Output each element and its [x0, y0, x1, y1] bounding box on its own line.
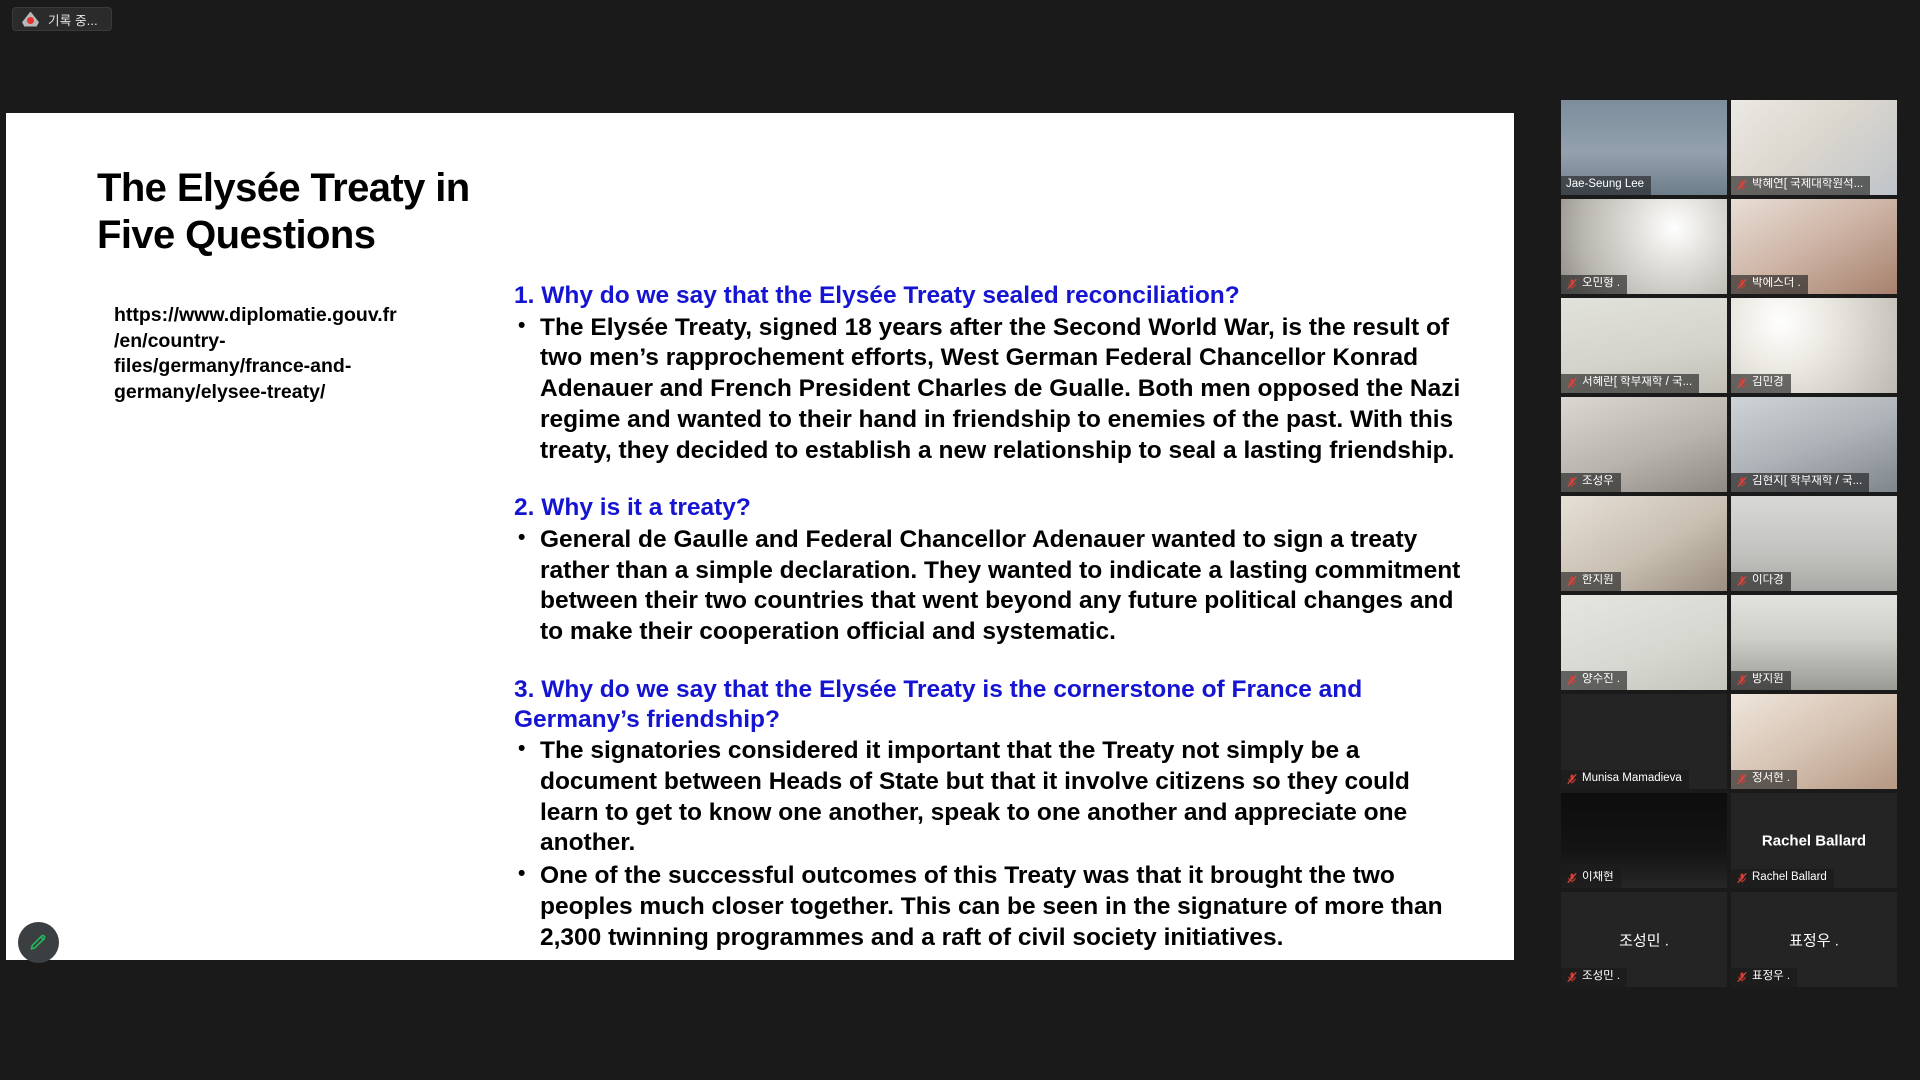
- participant-nametag: 한지원: [1561, 572, 1621, 591]
- participant-nametag: 박혜연[ 국제대학원석...: [1731, 176, 1870, 195]
- participant-tile[interactable]: Jae-Seung Lee: [1561, 100, 1727, 195]
- question-block-1: 1. Why do we say that the Elysée Treaty …: [514, 281, 1469, 466]
- participant-name: 조성우: [1582, 475, 1614, 489]
- participant-name: Munisa Mamadieva: [1582, 772, 1682, 786]
- bullet-item: One of the successful outcomes of this T…: [514, 861, 1469, 953]
- participant-name: 김현지[ 학부재학 / 국...: [1752, 475, 1862, 489]
- mic-muted-icon: [1566, 971, 1578, 983]
- participant-tile[interactable]: 오민형 .: [1561, 199, 1727, 294]
- slide-body: 1. Why do we say that the Elysée Treaty …: [514, 281, 1469, 953]
- question-heading: 1. Why do we say that the Elysée Treaty …: [514, 281, 1469, 311]
- participant-tile[interactable]: 이다경: [1731, 496, 1897, 591]
- participant-name: 정서현 .: [1752, 772, 1790, 786]
- mic-muted-icon: [1736, 377, 1748, 389]
- mic-muted-icon: [1566, 377, 1578, 389]
- question-block-3: 3. Why do we say that the Elysée Treaty …: [514, 675, 1469, 953]
- participant-name: 양수진 .: [1582, 673, 1620, 687]
- participant-tile[interactable]: Rachel BallardRachel Ballard: [1731, 793, 1897, 888]
- shared-screen-slide[interactable]: The Elysée Treaty in Five Questions http…: [6, 113, 1514, 960]
- participant-name: 이채현: [1582, 871, 1614, 885]
- participant-tile[interactable]: 표정우 .표정우 .: [1731, 892, 1897, 987]
- participant-name: 이다경: [1752, 574, 1784, 588]
- participant-video-strip[interactable]: Jae-Seung Lee박혜연[ 국제대학원석...오민형 .박에스더 .서혜…: [1561, 100, 1899, 987]
- mic-muted-icon: [1736, 674, 1748, 686]
- mic-muted-icon: [1736, 179, 1748, 191]
- participant-tile[interactable]: 방지원: [1731, 595, 1897, 690]
- participant-tile[interactable]: 양수진 .: [1561, 595, 1727, 690]
- participant-nametag: 박에스더 .: [1731, 275, 1808, 294]
- question-bullets: General de Gaulle and Federal Chancellor…: [514, 525, 1469, 648]
- participant-tile[interactable]: Munisa Mamadieva: [1561, 694, 1727, 789]
- participant-center-name: Rachel Ballard: [1731, 832, 1897, 849]
- participant-name: Rachel Ballard: [1752, 871, 1827, 885]
- participant-tile[interactable]: 박에스더 .: [1731, 199, 1897, 294]
- slide-source-url: https://www.diplomatie.gouv.fr/en/countr…: [114, 303, 399, 406]
- mic-muted-icon: [1736, 773, 1748, 785]
- mic-muted-icon: [1736, 278, 1748, 290]
- question-bullets: The Elysée Treaty, signed 18 years after…: [514, 313, 1469, 467]
- zoom-meeting-window: 기록 중... The Elysée Treaty in Five Questi…: [0, 0, 1920, 1080]
- participant-tile[interactable]: 한지원: [1561, 496, 1727, 591]
- mic-muted-icon: [1566, 278, 1578, 290]
- mic-muted-icon: [1736, 971, 1748, 983]
- bullet-item: General de Gaulle and Federal Chancellor…: [514, 525, 1469, 648]
- participant-name: Jae-Seung Lee: [1566, 178, 1644, 192]
- participant-name: 오민형 .: [1582, 277, 1620, 291]
- question-heading: 2. Why is it a treaty?: [514, 493, 1469, 523]
- pencil-icon: [28, 932, 49, 953]
- participant-nametag: 서혜란[ 학부재학 / 국...: [1561, 374, 1699, 393]
- participant-tile[interactable]: 김민경: [1731, 298, 1897, 393]
- participant-name: 박혜연[ 국제대학원석...: [1752, 178, 1863, 192]
- participant-name: 서혜란[ 학부재학 / 국...: [1582, 376, 1692, 390]
- recording-dot-icon: [22, 12, 39, 27]
- mic-muted-icon: [1566, 476, 1578, 488]
- annotate-button[interactable]: [18, 922, 59, 963]
- participant-nametag: 조성우: [1561, 473, 1621, 492]
- mic-muted-icon: [1736, 872, 1748, 884]
- participant-tile[interactable]: 김현지[ 학부재학 / 국...: [1731, 397, 1897, 492]
- participant-name: 박에스더 .: [1752, 277, 1801, 291]
- participant-center-name: 조성민 .: [1561, 929, 1727, 950]
- participant-tile[interactable]: 서혜란[ 학부재학 / 국...: [1561, 298, 1727, 393]
- participant-nametag: 이채현: [1561, 869, 1621, 888]
- participant-nametag: 오민형 .: [1561, 275, 1627, 294]
- participant-name: 한지원: [1582, 574, 1614, 588]
- participant-name: 방지원: [1752, 673, 1784, 687]
- participant-tile[interactable]: 조성우: [1561, 397, 1727, 492]
- participant-nametag: 표정우 .: [1731, 968, 1797, 987]
- mic-muted-icon: [1566, 674, 1578, 686]
- question-bullets: The signatories considered it important …: [514, 736, 1469, 953]
- mic-muted-icon: [1566, 575, 1578, 587]
- mic-muted-icon: [1736, 575, 1748, 587]
- bullet-item: The Elysée Treaty, signed 18 years after…: [514, 313, 1469, 467]
- participant-nametag: 김민경: [1731, 374, 1791, 393]
- participant-nametag: 양수진 .: [1561, 671, 1627, 690]
- participant-nametag: 김현지[ 학부재학 / 국...: [1731, 473, 1869, 492]
- question-block-2: 2. Why is it a treaty? General de Gaulle…: [514, 493, 1469, 648]
- participant-tile[interactable]: 조성민 .조성민 .: [1561, 892, 1727, 987]
- bullet-item: The signatories considered it important …: [514, 736, 1469, 859]
- participant-nametag: Munisa Mamadieva: [1561, 770, 1689, 789]
- recording-indicator[interactable]: 기록 중...: [12, 7, 112, 31]
- participant-center-name: 표정우 .: [1731, 929, 1897, 950]
- mic-muted-icon: [1566, 773, 1578, 785]
- participant-nametag: Jae-Seung Lee: [1561, 176, 1651, 195]
- question-heading: 3. Why do we say that the Elysée Treaty …: [514, 675, 1469, 734]
- participant-name: 표정우 .: [1752, 970, 1790, 984]
- participant-tile[interactable]: 정서현 .: [1731, 694, 1897, 789]
- mic-muted-icon: [1736, 476, 1748, 488]
- participant-nametag: 방지원: [1731, 671, 1791, 690]
- participant-name: 김민경: [1752, 376, 1784, 390]
- participant-nametag: 조성민 .: [1561, 968, 1627, 987]
- participant-tile[interactable]: 박혜연[ 국제대학원석...: [1731, 100, 1897, 195]
- recording-label: 기록 중...: [48, 10, 98, 29]
- participant-tile[interactable]: 이채현: [1561, 793, 1727, 888]
- participant-nametag: 정서현 .: [1731, 770, 1797, 789]
- slide-title: The Elysée Treaty in Five Questions: [97, 165, 497, 259]
- mic-muted-icon: [1566, 872, 1578, 884]
- participant-nametag: Rachel Ballard: [1731, 869, 1834, 888]
- participant-nametag: 이다경: [1731, 572, 1791, 591]
- participant-name: 조성민 .: [1582, 970, 1620, 984]
